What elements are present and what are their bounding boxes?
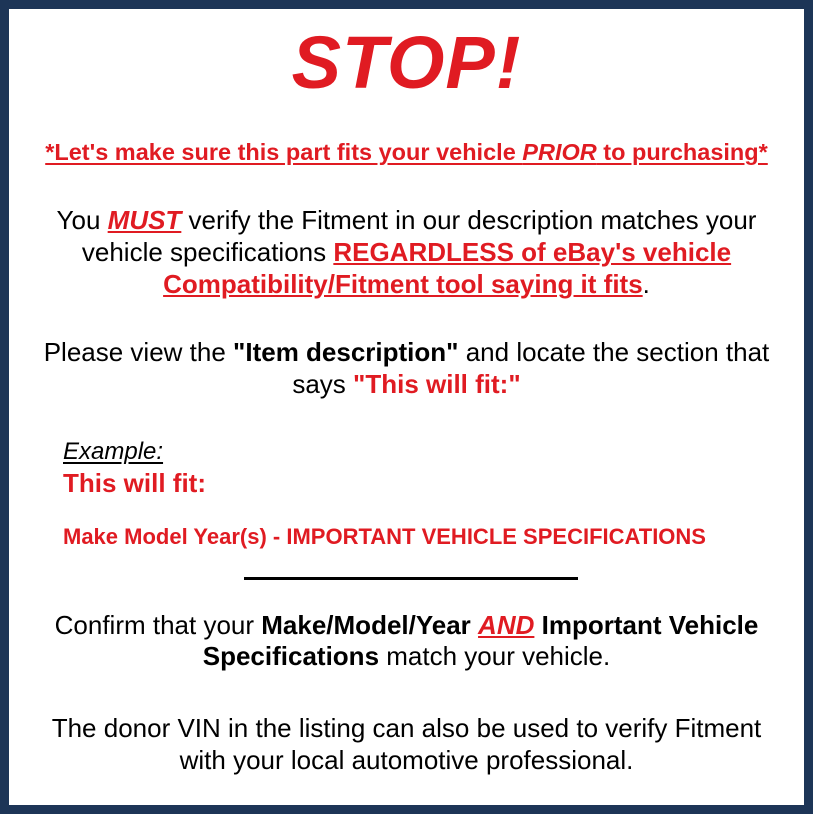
notice-content: STOP! *Let's make sure this part fits yo… xyxy=(9,26,804,814)
and-emphasis: AND xyxy=(478,610,534,640)
confirm-text-part1: Confirm that your xyxy=(55,610,262,640)
subtitle-tail-text: to purchasing* xyxy=(597,139,768,165)
example-spec-line: Make Model Year(s) - IMPORTANT VEHICLE S… xyxy=(63,524,791,550)
confirm-text-part3 xyxy=(534,610,541,640)
make-model-year-emphasis: Make/Model/Year xyxy=(261,610,471,640)
example-fit-header: This will fit: xyxy=(63,469,791,499)
example-block: Example: This will fit: Make Model Year(… xyxy=(22,439,791,549)
this-will-fit-quote-emphasis: "This will fit:" xyxy=(353,369,521,399)
paragraph-must-verify: You MUST verify the Fitment in our descr… xyxy=(22,205,791,301)
stop-title: STOP! xyxy=(22,26,791,100)
paragraph-donor-vin: The donor VIN in the listing can also be… xyxy=(22,713,791,777)
example-label: Example: xyxy=(63,439,163,465)
item-description-emphasis: "Item description" xyxy=(233,337,458,367)
subtitle-prior-emphasis: PRIOR xyxy=(522,139,596,165)
subtitle-banner: *Let's make sure this part fits your veh… xyxy=(22,138,791,167)
paragraph-item-description: Please view the "Item description" and l… xyxy=(22,337,791,401)
example-label-row: Example: xyxy=(63,439,791,465)
divider-row xyxy=(22,577,791,580)
thank-you-message: Thank you for confirming Fitment! xyxy=(22,803,791,814)
view-text-part1: Please view the xyxy=(44,337,233,367)
paragraph-confirm-match: Confirm that your Make/Model/Year AND Im… xyxy=(22,610,791,674)
must-text-part3: . xyxy=(643,269,650,299)
confirm-text-part2 xyxy=(471,610,478,640)
section-divider xyxy=(244,577,578,580)
must-emphasis: MUST xyxy=(108,205,182,235)
confirm-text-part4: match your vehicle. xyxy=(379,641,610,671)
fitment-notice-card: STOP! *Let's make sure this part fits yo… xyxy=(0,0,813,814)
subtitle-lead-text: *Let's make sure this part fits your veh… xyxy=(45,139,522,165)
must-text-part1: You xyxy=(57,205,108,235)
